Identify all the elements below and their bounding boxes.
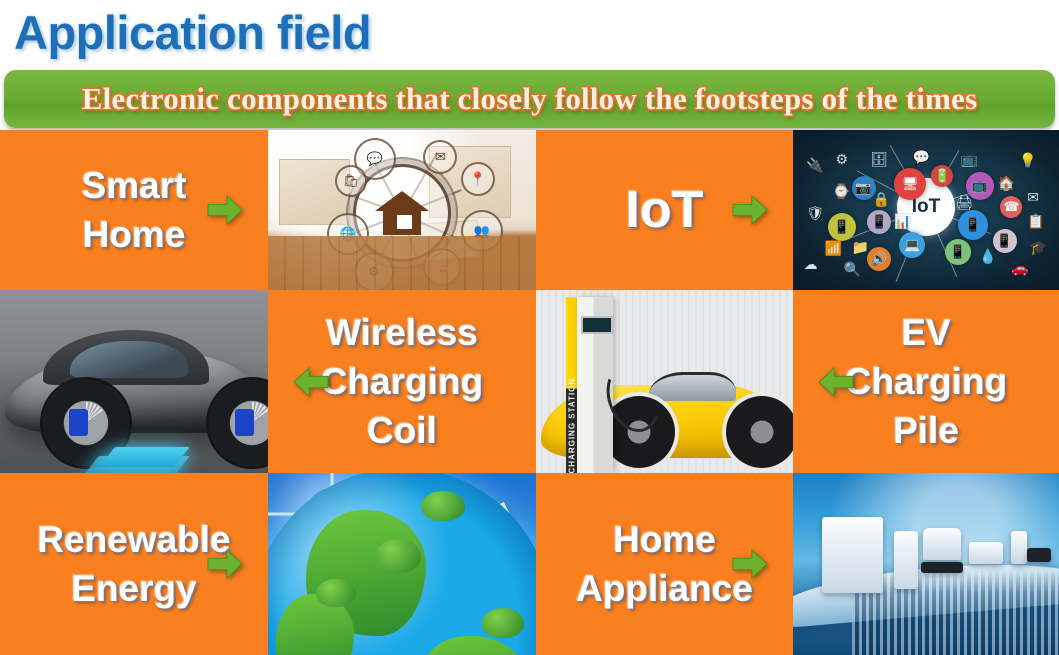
label-line: Energy bbox=[71, 564, 196, 613]
search-icon: 🔍 bbox=[844, 261, 861, 278]
plug-icon: 🔌 bbox=[806, 157, 823, 174]
microwave-icon bbox=[969, 542, 1004, 564]
renewable-energy-photo bbox=[268, 473, 536, 655]
cell-ev-charging-pile[interactable]: EV Charging Pile bbox=[793, 290, 1059, 473]
label-line: EV bbox=[901, 308, 950, 357]
application-grid: Smart Home bbox=[0, 130, 1059, 655]
water-heater-icon bbox=[894, 531, 918, 589]
mail-icon: ✉ bbox=[423, 140, 457, 174]
laptop-icon: 💻 bbox=[899, 232, 925, 258]
label-line: Coil bbox=[367, 406, 437, 455]
label-line: Wireless bbox=[326, 308, 478, 357]
server-icon: 🗄 bbox=[870, 151, 888, 168]
shopping-bag-icon: 🛍 bbox=[335, 165, 367, 197]
printer-icon: 🖨 bbox=[955, 194, 973, 211]
cloud-icon: ☁ bbox=[804, 256, 818, 273]
cooktop-icon bbox=[921, 562, 964, 573]
phone-icon: ☎ bbox=[1000, 196, 1022, 218]
label-line: Home bbox=[83, 210, 186, 259]
graduation-cap-icon: 🎓 bbox=[1030, 239, 1047, 256]
av-receiver-icon bbox=[1027, 548, 1051, 563]
water-drop-icon: 💧 bbox=[979, 248, 996, 265]
chart-icon: 📊 bbox=[894, 213, 911, 230]
battery-icon: 🔋 bbox=[931, 165, 953, 187]
arrow-right-icon bbox=[731, 193, 769, 227]
smart-home-illustration: 💬 ✉ 📍 👥 ♫ ⚙ 🌐 🛍 bbox=[268, 130, 536, 290]
watch-icon: ⌚ bbox=[833, 183, 850, 200]
label-line: IoT bbox=[626, 178, 704, 242]
microwave-icon: 📺 bbox=[961, 151, 978, 168]
cell-iot[interactable]: IoT bbox=[536, 130, 793, 290]
shield-icon: 🛡 bbox=[806, 205, 824, 222]
globe-icon: 🌐 bbox=[327, 213, 369, 255]
refrigerator-icon bbox=[822, 517, 883, 593]
cell-wireless-charging-car-image bbox=[0, 290, 268, 473]
label-line: Home bbox=[613, 515, 716, 564]
page-title: Application field bbox=[14, 2, 371, 64]
folder-icon: 📁 bbox=[852, 239, 869, 256]
mail-icon: ✉ bbox=[1027, 189, 1039, 206]
lock-icon: 🔒 bbox=[873, 191, 890, 208]
device-icon: 📱 bbox=[867, 210, 891, 234]
label-line: Charging bbox=[845, 357, 1007, 406]
grey-sports-car-photo bbox=[0, 290, 268, 473]
tagline-banner: Electronic components that closely follo… bbox=[4, 70, 1055, 128]
wireless-charging-pad-icon bbox=[99, 447, 190, 467]
application-field-poster: Application field Electronic components … bbox=[0, 0, 1059, 655]
arrow-left-icon bbox=[292, 365, 330, 399]
label-line: Renewable bbox=[37, 515, 230, 564]
cell-renewable-energy-image bbox=[268, 473, 536, 655]
gear-icon: ⚙ bbox=[354, 252, 394, 290]
music-note-icon: ♫ bbox=[423, 248, 461, 286]
iot-network-illustration: IoT 🖥 📷 🔋 📺 📱 ☎ 📱 💻 📱 📱 📱 🔊 🔌 ⚙ 🗄 💬 📺 � bbox=[793, 130, 1059, 290]
speaker-icon: 🔊 bbox=[867, 247, 891, 271]
location-pin-icon: 📍 bbox=[461, 162, 495, 196]
arrow-right-icon bbox=[206, 193, 244, 227]
ev-charging-station-photo: CHARGING STATION bbox=[536, 290, 793, 473]
arrow-right-icon bbox=[206, 547, 244, 581]
cell-wireless-charging-coil[interactable]: Wireless Charging Coil bbox=[268, 290, 536, 473]
tagline-text: Electronic components that closely follo… bbox=[82, 81, 978, 117]
range-hood-icon bbox=[923, 528, 960, 561]
gears-icon: ⚙ bbox=[836, 151, 849, 168]
label-line: Appliance bbox=[576, 564, 753, 613]
mobile-icon: 📱 bbox=[828, 213, 856, 241]
cell-ev-charging-image: CHARGING STATION bbox=[536, 290, 793, 473]
cell-smart-home-image: 💬 ✉ 📍 👥 ♫ ⚙ 🌐 🛍 bbox=[268, 130, 536, 290]
cell-renewable-energy[interactable]: Renewable Energy bbox=[0, 473, 268, 655]
smartphone-icon: 📱 bbox=[958, 210, 988, 240]
arrow-right-icon bbox=[731, 547, 769, 581]
label-line: Charging bbox=[321, 357, 483, 406]
people-icon: 👥 bbox=[461, 210, 503, 252]
lightbulb-icon: 💡 bbox=[1019, 152, 1036, 169]
house-icon: 🏠 bbox=[998, 175, 1015, 192]
car-icon: 🚗 bbox=[1011, 260, 1028, 277]
charging-station-label: CHARGING STATION bbox=[565, 385, 579, 466]
cell-home-appliance[interactable]: Home Appliance bbox=[536, 473, 793, 655]
home-appliance-photo bbox=[793, 473, 1059, 655]
video-icon: 📱 bbox=[945, 239, 971, 265]
cell-smart-home[interactable]: Smart Home bbox=[0, 130, 268, 290]
cell-home-appliance-image bbox=[793, 473, 1059, 655]
label-line: Smart bbox=[82, 161, 187, 210]
cell-iot-image: IoT 🖥 📷 🔋 📺 📱 ☎ 📱 💻 📱 📱 📱 🔊 🔌 ⚙ 🗄 💬 📺 � bbox=[793, 130, 1059, 290]
clipboard-icon: 📋 bbox=[1027, 213, 1044, 230]
wifi-icon: 📶 bbox=[825, 240, 842, 257]
label-line: Pile bbox=[893, 406, 959, 455]
arrow-left-icon bbox=[817, 365, 855, 399]
boiler-icon bbox=[1011, 531, 1027, 564]
chat-icon: 💬 bbox=[913, 149, 930, 166]
